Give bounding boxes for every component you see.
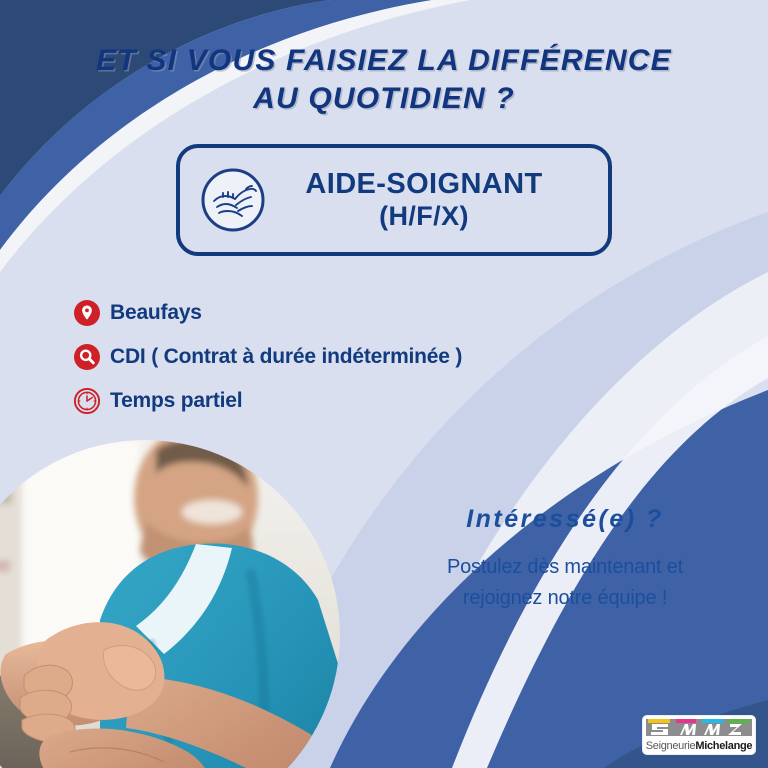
logo-brand-bold: Michelange bbox=[695, 740, 752, 752]
cta-heading: Intéressé(e) ? bbox=[390, 505, 740, 534]
logo-color-bars bbox=[646, 719, 752, 736]
logo-wordmark: SeigneurieMichelange bbox=[643, 740, 755, 752]
list-item-label: Beaufays bbox=[110, 301, 202, 325]
clock-icon bbox=[74, 388, 100, 414]
company-logo: SeigneurieMichelange bbox=[643, 716, 755, 754]
list-item-label: CDI ( Contrat à durée indéterminée ) bbox=[110, 345, 462, 369]
caring-hands-icon bbox=[200, 167, 266, 233]
list-item-label: Temps partiel bbox=[110, 389, 242, 413]
job-details-list: Beaufays CDI ( Contrat à durée indétermi… bbox=[74, 300, 462, 432]
job-poster: ET SI VOUS FAISIEZ LA DIFFÉRENCE AU QUOT… bbox=[0, 0, 768, 768]
caregiver-photo bbox=[0, 440, 340, 768]
cta-block: Intéressé(e) ? Postulez dès maintenant e… bbox=[390, 505, 740, 614]
list-item: Temps partiel bbox=[74, 388, 462, 414]
job-gender-tag: (H/F/X) bbox=[266, 201, 582, 232]
job-title-text: AIDE-SOIGNANT (H/F/X) bbox=[266, 168, 608, 232]
headline: ET SI VOUS FAISIEZ LA DIFFÉRENCE AU QUOT… bbox=[0, 42, 768, 119]
job-title-box: AIDE-SOIGNANT (H/F/X) bbox=[176, 144, 612, 256]
magnifier-icon bbox=[74, 344, 100, 370]
cta-line-1: Postulez dès maintenant et bbox=[390, 552, 740, 583]
cta-line-2: rejoignez notre équipe ! bbox=[390, 583, 740, 614]
list-item: Beaufays bbox=[74, 300, 462, 326]
list-item: CDI ( Contrat à durée indéterminée ) bbox=[74, 344, 462, 370]
job-title: AIDE-SOIGNANT bbox=[305, 168, 542, 200]
cta-body: Postulez dès maintenant et rejoignez not… bbox=[390, 552, 740, 614]
logo-brand-light: Seigneurie bbox=[646, 740, 696, 752]
headline-line-1: ET SI VOUS FAISIEZ LA DIFFÉRENCE bbox=[96, 44, 672, 77]
location-pin-icon bbox=[74, 300, 100, 326]
headline-line-2: AU QUOTIDIEN ? bbox=[0, 80, 768, 118]
